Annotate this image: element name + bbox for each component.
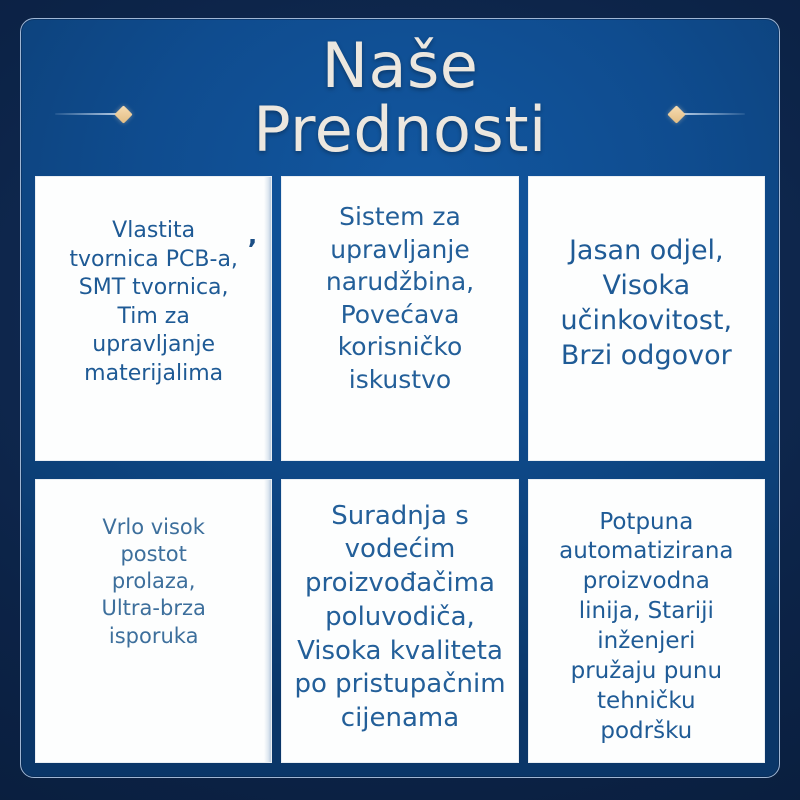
advantage-card-5-text: Suradnja s vodećim proizvođačima poluvod… bbox=[294, 498, 505, 737]
advantage-card-2-text: Sistem za upravljanje narudžbina, Poveća… bbox=[326, 195, 474, 396]
page-title: Naše Prednosti bbox=[253, 34, 547, 160]
ornament-line-right bbox=[683, 113, 745, 115]
advantage-card-5[interactable]: Suradnja s vodećim proizvođačima poluvod… bbox=[281, 479, 518, 764]
advantages-grid: Vlastita tvornica PCB-a, SMT tvornica, T… bbox=[35, 176, 765, 763]
advantage-card-1[interactable]: Vlastita tvornica PCB-a, SMT tvornica, T… bbox=[35, 176, 272, 461]
advantage-card-4-text: Vrlo visok postot prolaza, Ultra-brza is… bbox=[101, 498, 205, 650]
advantage-card-2[interactable]: Sistem za upravljanje narudžbina, Poveća… bbox=[281, 176, 518, 461]
header: Naše Prednosti bbox=[35, 19, 765, 176]
advantage-card-4[interactable]: Vrlo visok postot prolaza, Ultra-brza is… bbox=[35, 479, 272, 764]
ornament-line-left bbox=[55, 113, 117, 115]
quote-mark-icon: ’ bbox=[247, 237, 257, 263]
diamond-icon bbox=[667, 105, 685, 123]
advantage-card-1-text: Vlastita tvornica PCB-a, SMT tvornica, T… bbox=[69, 195, 238, 389]
ornament-right bbox=[670, 107, 745, 121]
content-panel: Naše Prednosti Vlastita tvornica PCB-a, … bbox=[20, 18, 780, 778]
slide-stage: Naše Prednosti Vlastita tvornica PCB-a, … bbox=[0, 0, 800, 800]
advantage-card-6[interactable]: Potpuna automatizirana proizvodna linija… bbox=[528, 479, 765, 764]
advantage-card-6-text: Potpuna automatizirana proizvodna linija… bbox=[559, 498, 733, 747]
advantage-card-3[interactable]: Jasan odjel, Visoka učinkovitost, Brzi o… bbox=[528, 176, 765, 461]
advantage-card-3-text: Jasan odjel, Visoka učinkovitost, Brzi o… bbox=[561, 195, 733, 373]
diamond-icon bbox=[114, 105, 132, 123]
ornament-left bbox=[55, 107, 130, 121]
